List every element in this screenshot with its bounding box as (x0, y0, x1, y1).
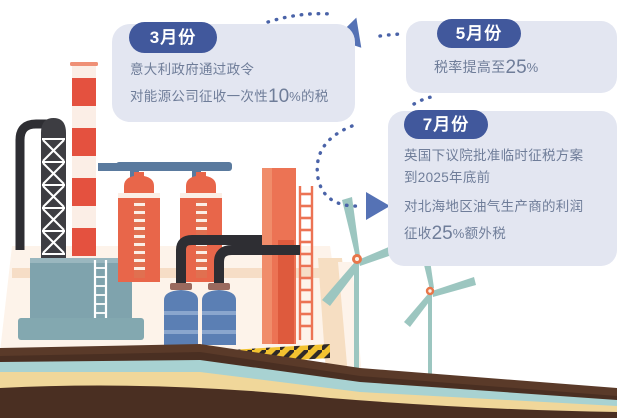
infographic-root: 3月份 5月份 7月份 意大利政府通过政令对能源公司征收一次性10%的税 税率提… (0, 0, 617, 418)
badge-may: 5月份 (437, 19, 521, 48)
connector-may-to-july-dots (414, 96, 436, 104)
card-text-line: 意大利政府通过政令 (130, 58, 329, 81)
card-text-line: 征收25%额外税 (404, 218, 583, 249)
card-march-body: 意大利政府通过政令对能源公司征收一次性10%的税 (130, 58, 329, 114)
card-text-line: 对北海地区油气生产商的利润 (404, 196, 583, 218)
badge-july: 7月份 (404, 110, 488, 139)
card-text-line: 税率提高至25% (434, 52, 539, 85)
connector-may-inlet-dots (380, 34, 404, 36)
card-text-line: 对能源公司征收一次性10%的税 (130, 81, 329, 114)
connector-march-to-may-dots (268, 14, 330, 22)
badge-march: 3月份 (129, 22, 217, 53)
card-july-body: 英国下议院批准临时征税方案到2025年底前对北海地区油气生产商的利润征收25%额… (404, 145, 583, 249)
card-text-line: 英国下议院批准临时征税方案 (404, 145, 583, 167)
card-text-line: 到2025年底前 (404, 167, 583, 189)
connector-march-to-july-dots (317, 126, 362, 206)
card-may-body: 税率提高至25% (434, 52, 539, 85)
connector-march-to-july-arrowhead (366, 192, 390, 220)
